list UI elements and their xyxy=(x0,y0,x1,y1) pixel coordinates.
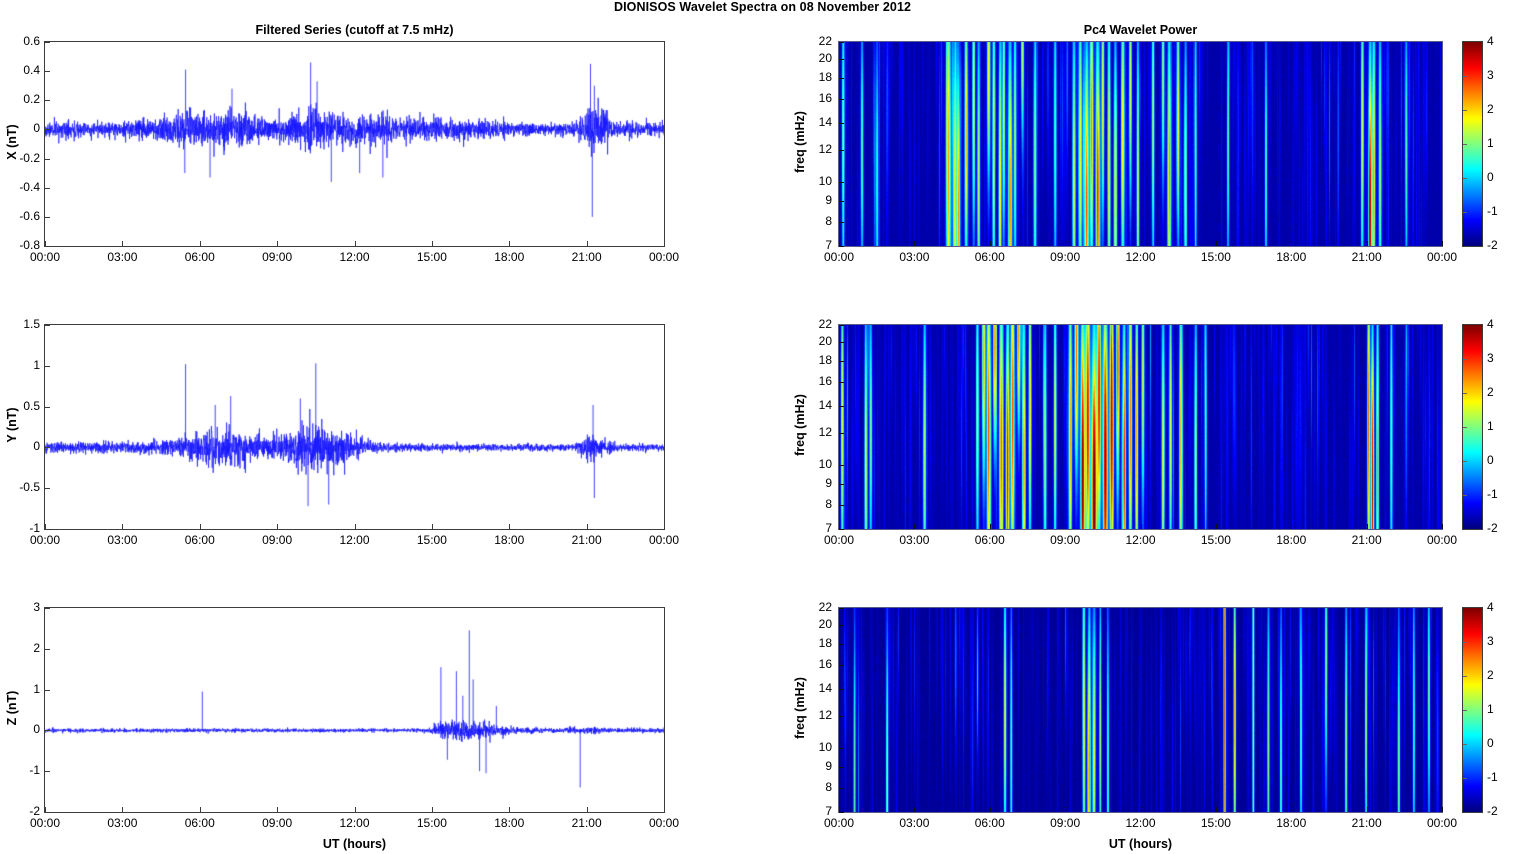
colorbar-tickmark xyxy=(1463,359,1467,360)
timeseries-trace-x xyxy=(45,42,664,246)
colorbar-tick-label: 3 xyxy=(1487,351,1513,365)
colorbar-tick-label: 1 xyxy=(1487,136,1513,150)
freq-tickmark xyxy=(839,42,844,43)
colorbar-tick-label: 3 xyxy=(1487,68,1513,82)
x-tick-label: 12:00 xyxy=(325,816,385,830)
x-tickmark xyxy=(200,241,201,246)
colorbar-tick-label: 0 xyxy=(1487,170,1513,184)
colorbar-tick-label: 2 xyxy=(1487,385,1513,399)
x-tickmark xyxy=(839,524,840,529)
x-tickmark xyxy=(277,241,278,246)
colorbar-tickmark xyxy=(1463,710,1467,711)
x-tickmark xyxy=(664,241,665,246)
left-column-title: Filtered Series (cutoff at 7.5 mHz) xyxy=(44,23,665,37)
x-tick-label: 00:00 xyxy=(1412,533,1472,547)
left-x-axis-title: UT (hours) xyxy=(44,837,665,851)
colorbar-tick-label: 3 xyxy=(1487,634,1513,648)
colorbar-tickmark xyxy=(1463,178,1467,179)
freq-tick-label: 22 xyxy=(798,600,832,614)
x-tickmark xyxy=(432,524,433,529)
x-tickmark xyxy=(432,241,433,246)
y-tickmark xyxy=(45,366,50,367)
colorbar-tickmark xyxy=(1463,495,1467,496)
freq-tickmark xyxy=(839,246,844,247)
x-tick-label: 03:00 xyxy=(884,250,944,264)
colorbar-tickmark xyxy=(1463,212,1467,213)
y-tickmark xyxy=(45,649,50,650)
y-tickmark xyxy=(45,246,50,247)
x-tickmark xyxy=(1216,524,1217,529)
x-tickmark xyxy=(1065,241,1066,246)
x-tick-label: 18:00 xyxy=(1261,250,1321,264)
x-tickmark xyxy=(509,241,510,246)
freq-tickmark xyxy=(839,484,844,485)
spectrogram-image-z xyxy=(839,608,1442,812)
x-tickmark xyxy=(1141,524,1142,529)
timeseries-axes-y xyxy=(44,324,665,530)
x-tick-label: 06:00 xyxy=(960,816,1020,830)
x-tick-label: 00:00 xyxy=(1412,816,1472,830)
freq-tickmark xyxy=(839,505,844,506)
x-tick-label: 00:00 xyxy=(15,533,75,547)
x-tick-label: 21:00 xyxy=(1337,533,1397,547)
spectrogram-image-y xyxy=(839,325,1442,529)
colorbar-tick-label: 4 xyxy=(1487,34,1513,48)
x-tickmark xyxy=(1141,241,1142,246)
x-tickmark xyxy=(122,807,123,812)
colorbar-tick-label: -1 xyxy=(1487,487,1513,501)
x-tick-label: 12:00 xyxy=(1111,250,1171,264)
x-tickmark xyxy=(1291,524,1292,529)
y-tickmark xyxy=(45,529,50,530)
freq-tick-label: 22 xyxy=(798,34,832,48)
x-tick-label: 12:00 xyxy=(1111,533,1171,547)
x-tickmark xyxy=(45,524,46,529)
x-tickmark xyxy=(1216,241,1217,246)
x-tickmark xyxy=(1065,524,1066,529)
colorbar-tickmark xyxy=(1463,76,1467,77)
x-tickmark xyxy=(1442,524,1443,529)
freq-tickmark xyxy=(839,788,844,789)
y-tick-label: 1.5 xyxy=(0,317,40,331)
freq-tickmark xyxy=(839,361,844,362)
colorbar-tickmark xyxy=(1463,744,1467,745)
x-tickmark xyxy=(587,807,588,812)
y-tick-label: 3 xyxy=(0,600,40,614)
x-tickmark xyxy=(432,807,433,812)
x-tick-label: 00:00 xyxy=(1412,250,1472,264)
x-tickmark xyxy=(990,524,991,529)
x-tickmark xyxy=(839,807,840,812)
x-tick-label: 00:00 xyxy=(809,816,869,830)
y-axis-title-y: Y (nT) xyxy=(5,365,19,485)
right-column-title: Pc4 Wavelet Power xyxy=(838,23,1443,37)
colorbar-tickmark xyxy=(1463,676,1467,677)
x-tick-label: 09:00 xyxy=(1035,533,1095,547)
colorbar-tick-label: -1 xyxy=(1487,204,1513,218)
freq-tick-label: 20 xyxy=(798,334,832,348)
y-tickmark xyxy=(45,217,50,218)
freq-tickmark xyxy=(839,812,844,813)
right-x-axis-title: UT (hours) xyxy=(838,837,1443,851)
freq-tickmark xyxy=(839,325,844,326)
y-tick-label: 0.6 xyxy=(0,34,40,48)
freq-tickmark xyxy=(839,201,844,202)
colorbar-tick-label: -1 xyxy=(1487,770,1513,784)
y-tickmark xyxy=(45,771,50,772)
colorbar-tick-label: 4 xyxy=(1487,317,1513,331)
x-tick-label: 21:00 xyxy=(557,816,617,830)
colorbar-tick-label: 1 xyxy=(1487,419,1513,433)
y-axis-title-z: Z (nT) xyxy=(5,648,19,768)
y-tickmark xyxy=(45,188,50,189)
freq-tickmark xyxy=(839,99,844,100)
freq-tick-label: 8 xyxy=(798,497,832,511)
x-tick-label: 21:00 xyxy=(557,250,617,264)
colorbar-tick-label: -2 xyxy=(1487,804,1513,818)
x-tick-label: 15:00 xyxy=(402,816,462,830)
freq-tickmark xyxy=(839,748,844,749)
y-tickmark xyxy=(45,100,50,101)
x-tick-label: 12:00 xyxy=(325,250,385,264)
x-tickmark xyxy=(1442,807,1443,812)
freq-tickmark xyxy=(839,406,844,407)
figure-title: DIONISOS Wavelet Spectra on 08 November … xyxy=(0,0,1525,14)
x-tickmark xyxy=(277,807,278,812)
y-tickmark xyxy=(45,71,50,72)
colorbar-tick-label: 4 xyxy=(1487,600,1513,614)
x-tick-label: 15:00 xyxy=(1186,533,1246,547)
timeseries-axes-x xyxy=(44,41,665,247)
x-tick-label: 15:00 xyxy=(1186,816,1246,830)
colorbar-tickmark xyxy=(1463,110,1467,111)
freq-tickmark xyxy=(839,644,844,645)
x-tickmark xyxy=(355,241,356,246)
freq-tickmark xyxy=(839,665,844,666)
x-tick-label: 06:00 xyxy=(170,816,230,830)
freq-tickmark xyxy=(839,716,844,717)
y-tickmark xyxy=(45,325,50,326)
colorbar-tick-label: 0 xyxy=(1487,736,1513,750)
spectrogram-axes-y xyxy=(838,324,1443,530)
x-tick-label: 03:00 xyxy=(92,816,152,830)
y-tick-label: -0.6 xyxy=(0,209,40,223)
colorbar-tick-label: -2 xyxy=(1487,238,1513,252)
x-tick-label: 06:00 xyxy=(960,533,1020,547)
x-tick-label: 21:00 xyxy=(1337,816,1397,830)
spectrogram-image-x xyxy=(839,42,1442,246)
freq-axis-title-y: freq (mHz) xyxy=(793,360,807,490)
x-tickmark xyxy=(664,807,665,812)
x-tickmark xyxy=(1065,807,1066,812)
x-tick-label: 00:00 xyxy=(15,816,75,830)
x-tickmark xyxy=(355,524,356,529)
x-tick-label: 15:00 xyxy=(402,250,462,264)
x-tickmark xyxy=(355,807,356,812)
x-tickmark xyxy=(509,524,510,529)
freq-tick-label: 22 xyxy=(798,317,832,331)
x-tickmark xyxy=(1367,241,1368,246)
x-tick-label: 03:00 xyxy=(884,816,944,830)
colorbar-tick-label: -2 xyxy=(1487,521,1513,535)
x-tickmark xyxy=(122,241,123,246)
freq-tickmark xyxy=(839,222,844,223)
x-tick-label: 09:00 xyxy=(1035,250,1095,264)
freq-tickmark xyxy=(839,59,844,60)
x-tick-label: 09:00 xyxy=(247,816,307,830)
x-tick-label: 03:00 xyxy=(884,533,944,547)
freq-tickmark xyxy=(839,182,844,183)
colorbar-tickmark xyxy=(1463,461,1467,462)
x-tickmark xyxy=(509,807,510,812)
x-tick-label: 18:00 xyxy=(479,250,539,264)
x-tick-label: 21:00 xyxy=(1337,250,1397,264)
x-tick-label: 00:00 xyxy=(634,250,694,264)
x-tick-label: 12:00 xyxy=(1111,816,1171,830)
freq-tickmark xyxy=(839,382,844,383)
figure-canvas: DIONISOS Wavelet Spectra on 08 November … xyxy=(0,0,1525,854)
x-tickmark xyxy=(1367,807,1368,812)
x-tickmark xyxy=(587,524,588,529)
x-tickmark xyxy=(1141,807,1142,812)
x-tick-label: 09:00 xyxy=(247,250,307,264)
y-tickmark xyxy=(45,129,50,130)
y-tick-label: 0.4 xyxy=(0,63,40,77)
x-tick-label: 03:00 xyxy=(92,250,152,264)
x-tick-label: 18:00 xyxy=(479,816,539,830)
x-tick-label: 12:00 xyxy=(325,533,385,547)
spectrogram-axes-z xyxy=(838,607,1443,813)
freq-tickmark xyxy=(839,689,844,690)
y-tickmark xyxy=(45,159,50,160)
freq-tick-label: 8 xyxy=(798,214,832,228)
freq-tickmark xyxy=(839,123,844,124)
spectrogram-axes-x xyxy=(838,41,1443,247)
x-tickmark xyxy=(990,807,991,812)
freq-tick-label: 20 xyxy=(798,617,832,631)
freq-axis-title-z: freq (mHz) xyxy=(793,643,807,773)
x-tick-label: 18:00 xyxy=(1261,533,1321,547)
y-tickmark xyxy=(45,42,50,43)
x-tickmark xyxy=(45,241,46,246)
y-tickmark xyxy=(45,730,50,731)
y-axis-title-x: X (nT) xyxy=(5,82,19,202)
x-tickmark xyxy=(200,524,201,529)
x-tick-label: 15:00 xyxy=(1186,250,1246,264)
x-tickmark xyxy=(277,524,278,529)
freq-tickmark xyxy=(839,608,844,609)
freq-tick-label: 8 xyxy=(798,780,832,794)
x-tick-label: 18:00 xyxy=(1261,816,1321,830)
x-tickmark xyxy=(1367,524,1368,529)
x-tickmark xyxy=(914,807,915,812)
x-tick-label: 18:00 xyxy=(479,533,539,547)
y-tickmark xyxy=(45,447,50,448)
colorbar-tickmark xyxy=(1463,642,1467,643)
x-tick-label: 06:00 xyxy=(960,250,1020,264)
freq-axis-title-x: freq (mHz) xyxy=(793,77,807,207)
x-tick-label: 09:00 xyxy=(1035,816,1095,830)
freq-tickmark xyxy=(839,767,844,768)
colorbar-tick-label: 0 xyxy=(1487,453,1513,467)
x-tick-label: 06:00 xyxy=(170,250,230,264)
x-tickmark xyxy=(1291,807,1292,812)
freq-tickmark xyxy=(839,342,844,343)
freq-tickmark xyxy=(839,150,844,151)
x-tickmark xyxy=(1442,241,1443,246)
x-tickmark xyxy=(1216,807,1217,812)
x-tickmark xyxy=(45,807,46,812)
timeseries-trace-z xyxy=(45,608,664,812)
y-tickmark xyxy=(45,608,50,609)
x-tickmark xyxy=(914,241,915,246)
x-tick-label: 00:00 xyxy=(634,816,694,830)
x-tick-label: 00:00 xyxy=(809,250,869,264)
freq-tickmark xyxy=(839,433,844,434)
x-tick-label: 03:00 xyxy=(92,533,152,547)
freq-tick-label: 20 xyxy=(798,51,832,65)
x-tickmark xyxy=(1291,241,1292,246)
colorbar-tickmark xyxy=(1463,778,1467,779)
colorbar-tickmark xyxy=(1463,144,1467,145)
colorbar-tick-label: 1 xyxy=(1487,702,1513,716)
x-tickmark xyxy=(587,241,588,246)
x-tickmark xyxy=(664,524,665,529)
freq-tickmark xyxy=(839,529,844,530)
x-tickmark xyxy=(914,524,915,529)
x-tick-label: 00:00 xyxy=(809,533,869,547)
x-tick-label: 21:00 xyxy=(557,533,617,547)
y-tickmark xyxy=(45,488,50,489)
colorbar-tickmark xyxy=(1463,427,1467,428)
x-tick-label: 15:00 xyxy=(402,533,462,547)
y-tickmark xyxy=(45,812,50,813)
freq-tickmark xyxy=(839,78,844,79)
colorbar-tickmark xyxy=(1463,393,1467,394)
x-tick-label: 00:00 xyxy=(634,533,694,547)
colorbar-tick-label: 2 xyxy=(1487,102,1513,116)
timeseries-trace-y xyxy=(45,325,664,529)
y-tickmark xyxy=(45,690,50,691)
x-tickmark xyxy=(839,241,840,246)
y-tickmark xyxy=(45,407,50,408)
freq-tickmark xyxy=(839,465,844,466)
freq-tickmark xyxy=(839,625,844,626)
x-tickmark xyxy=(990,241,991,246)
timeseries-axes-z xyxy=(44,607,665,813)
x-tickmark xyxy=(200,807,201,812)
x-tickmark xyxy=(122,524,123,529)
x-tick-label: 09:00 xyxy=(247,533,307,547)
colorbar-tick-label: 2 xyxy=(1487,668,1513,682)
x-tick-label: 06:00 xyxy=(170,533,230,547)
x-tick-label: 00:00 xyxy=(15,250,75,264)
